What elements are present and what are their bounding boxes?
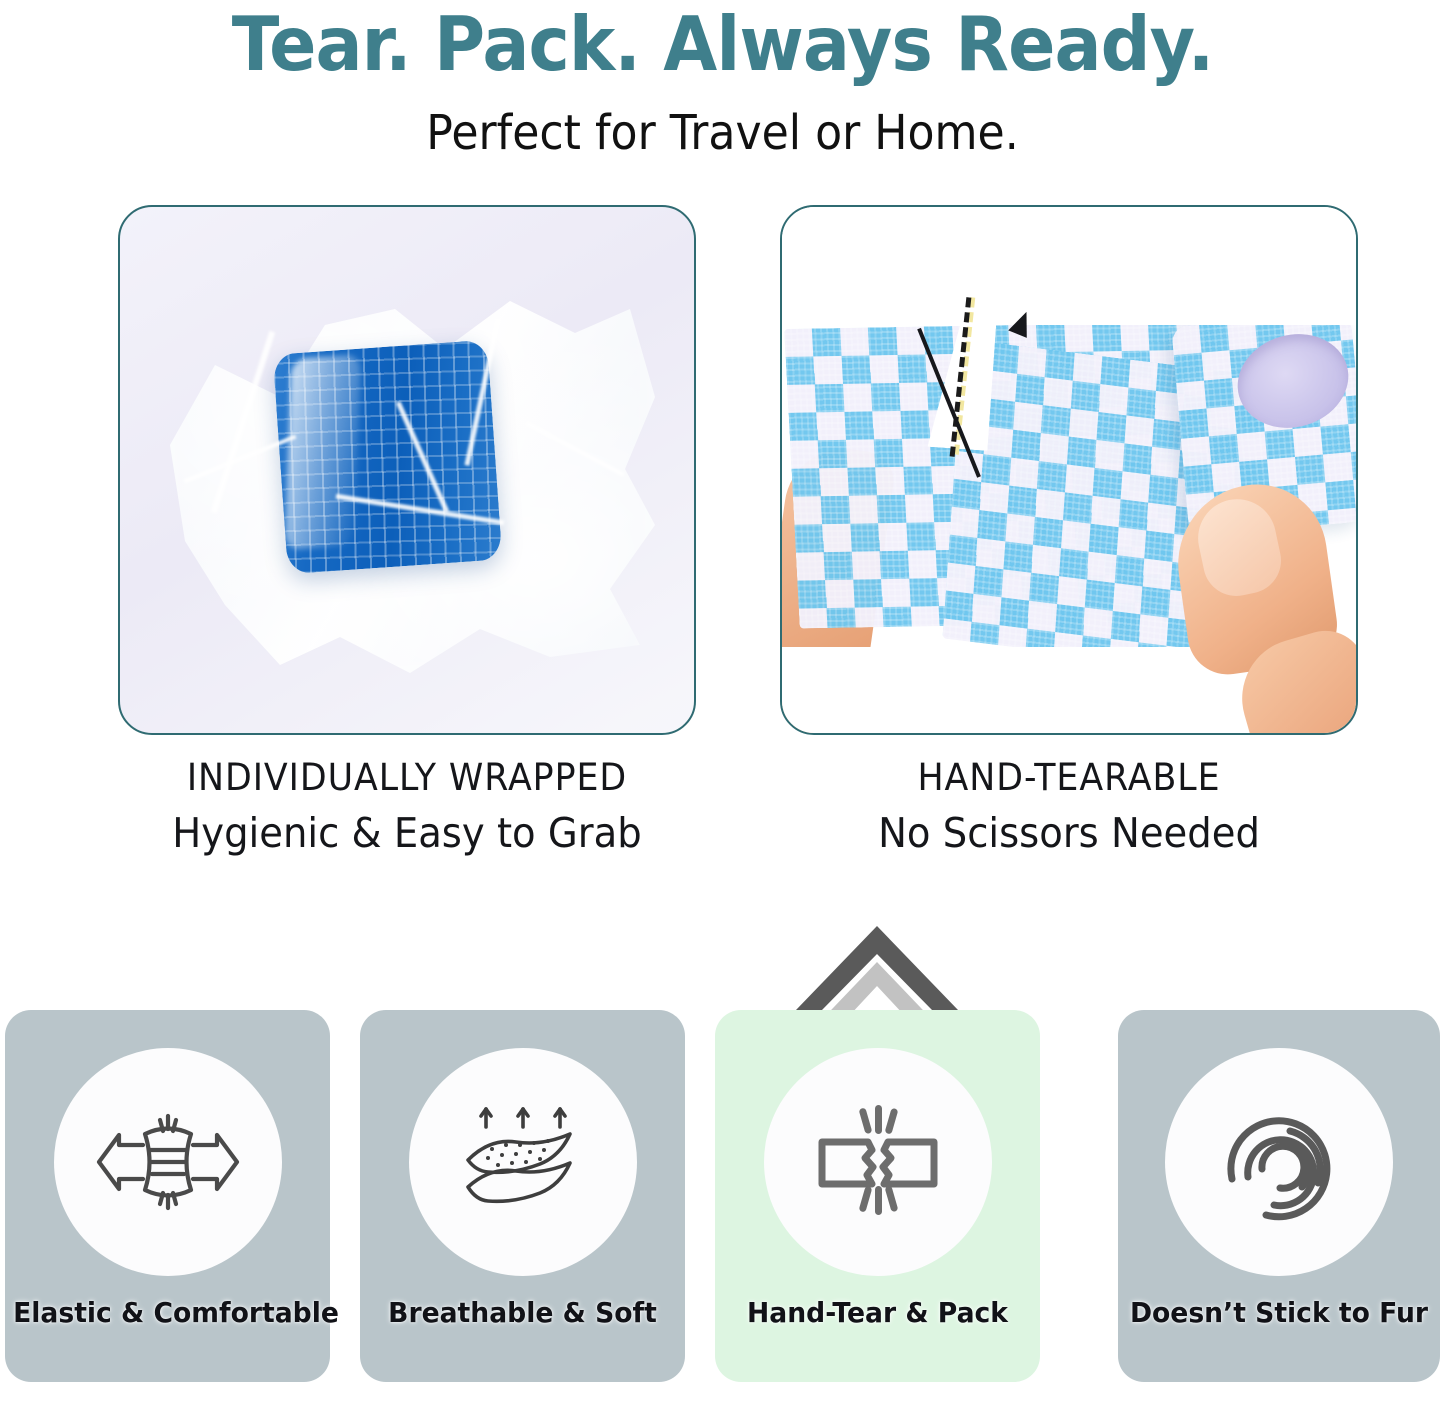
caption-title: INDIVIDUALLY WRAPPED [135,752,678,804]
breathable-layers-icon [448,1087,598,1237]
feature-card-label: Hand-Tear & Pack [723,1296,1032,1330]
caption-individually-wrapped: INDIVIDUALLY WRAPPED Hygienic & Easy to … [118,752,696,862]
feature-card-label: Breathable & Soft [368,1296,677,1330]
feature-card-label: Elastic & Comfortable [13,1296,322,1330]
hand-tearing-photo [782,207,1356,733]
background-mask [782,207,1358,325]
stretch-arrows-icon [93,1087,243,1237]
caption-subtitle: Hygienic & Easy to Grab [135,804,678,862]
caption-title: HAND-TEARABLE [797,752,1340,804]
feature-card-no-fur-stick[interactable]: Doesn’t Stick to Fur [1118,1010,1440,1382]
fur-swirl-icon [1204,1087,1354,1237]
wrapped-roll-photo [120,207,694,733]
page-subtitle: Perfect for Travel or Home. [58,104,1387,162]
roll-highlight [285,354,361,550]
caption-hand-tearable: HAND-TEARABLE No Scissors Needed [780,752,1358,862]
photo-panel-hand-tearable [780,205,1358,735]
feature-card-row: Elastic & Comfortable [0,1010,1445,1390]
icon-badge [1165,1048,1393,1276]
icon-badge [54,1048,282,1276]
torn-tape-icon [802,1086,954,1238]
photo-panel-individually-wrapped [118,205,696,735]
background-mask [782,647,1242,735]
caption-subtitle: No Scissors Needed [797,804,1340,862]
feature-card-hand-tear[interactable]: Hand-Tear & Pack [715,1010,1040,1382]
icon-badge [409,1048,637,1276]
feature-card-elastic[interactable]: Elastic & Comfortable [5,1010,330,1382]
up-chevron-pointer [792,922,962,1022]
feature-card-breathable[interactable]: Breathable & Soft [360,1010,685,1382]
feature-card-label: Doesn’t Stick to Fur [1126,1296,1432,1330]
product-infographic: Tear. Pack. Always Ready. Perfect for Tr… [0,0,1445,1410]
page-title: Tear. Pack. Always Ready. [51,2,1395,86]
icon-badge [764,1048,992,1276]
